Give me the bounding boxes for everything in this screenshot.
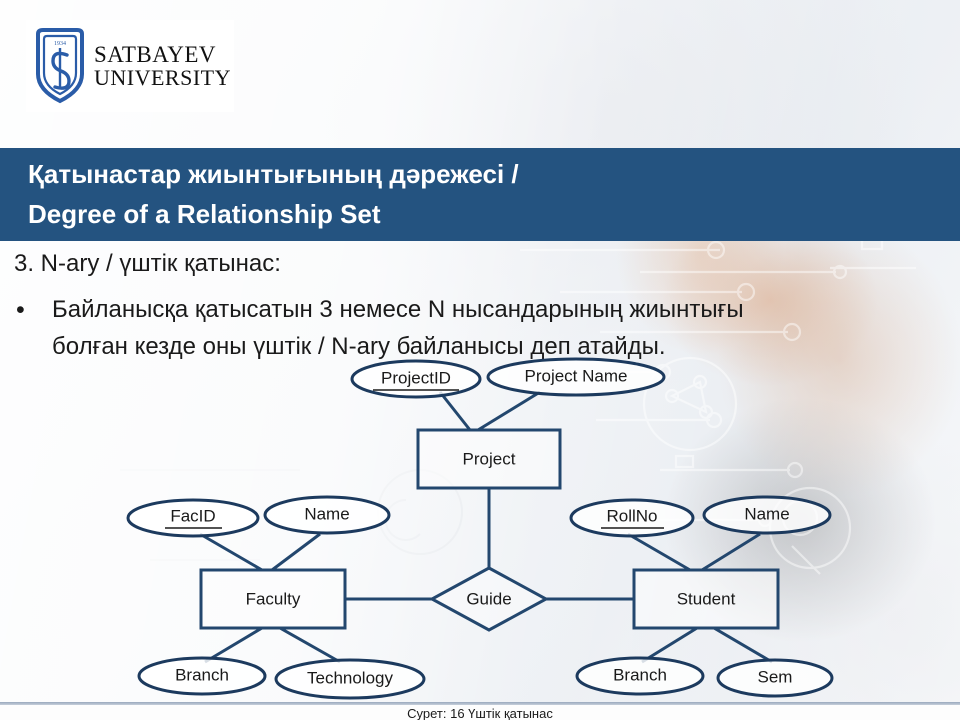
- attribute-student-branch-label: Branch: [613, 665, 667, 684]
- attribute-facid[interactable]: FacID: [128, 500, 258, 536]
- attribute-faculty-branch[interactable]: Branch: [139, 658, 265, 694]
- attribute-faculty-name-label: Name: [304, 504, 349, 523]
- attribute-technology-label: Technology: [307, 668, 394, 687]
- attribute-facid-label: FacID: [170, 506, 215, 525]
- attribute-student-name-label: Name: [744, 504, 789, 523]
- attribute-rollno-label: RollNo: [606, 506, 657, 525]
- entity-faculty-label: Faculty: [246, 589, 301, 608]
- attribute-sem[interactable]: Sem: [718, 660, 832, 696]
- attribute-projectid[interactable]: ProjectID: [352, 361, 480, 397]
- attribute-student-branch[interactable]: Branch: [577, 658, 703, 694]
- entity-student[interactable]: Student: [634, 570, 778, 628]
- relationship-guide-label: Guide: [466, 589, 511, 608]
- attribute-faculty-branch-label: Branch: [175, 665, 229, 684]
- er-diagram: Project Faculty Student Guide ProjectID …: [0, 0, 960, 702]
- attribute-rollno[interactable]: RollNo: [571, 500, 693, 536]
- attribute-student-name[interactable]: Name: [704, 497, 830, 533]
- attribute-faculty-name[interactable]: Name: [265, 497, 389, 533]
- footer-divider: [0, 702, 960, 705]
- entity-project[interactable]: Project: [418, 430, 560, 488]
- attribute-technology[interactable]: Technology: [276, 660, 424, 698]
- attribute-projectid-label: ProjectID: [381, 368, 451, 387]
- figure-caption: Сурет: 16 Үштік қатынас: [0, 706, 960, 720]
- attribute-project-name-label: Project Name: [525, 366, 628, 385]
- entity-project-label: Project: [463, 449, 516, 468]
- relationship-guide[interactable]: Guide: [432, 568, 546, 630]
- entity-faculty[interactable]: Faculty: [201, 570, 345, 628]
- attribute-sem-label: Sem: [758, 667, 793, 686]
- attribute-project-name[interactable]: Project Name: [488, 359, 664, 395]
- slide-canvas: 1934 SATBAYEV UNIVERSITY Қатынастар жиын…: [0, 0, 960, 720]
- entity-student-label: Student: [677, 589, 736, 608]
